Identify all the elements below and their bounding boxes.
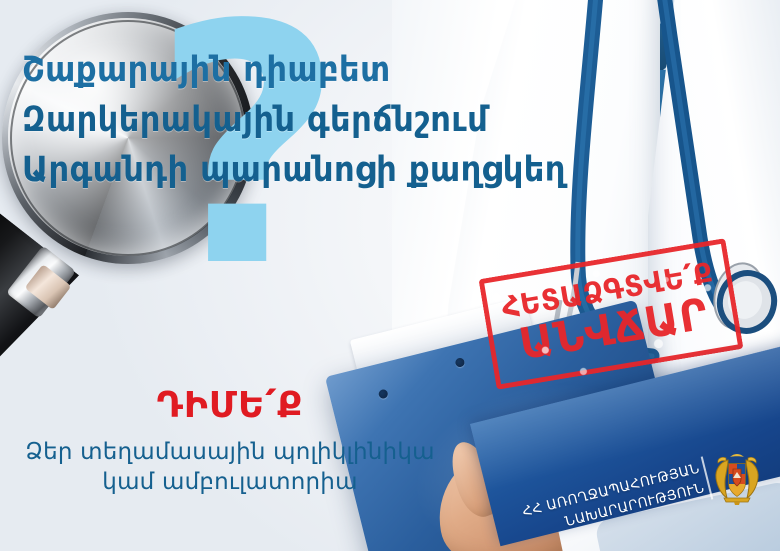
headline-line-3: Արգանդի պարանոցի քաղցկեղ	[22, 152, 537, 190]
headline-block: Շաքարային դիաբետ Զարկերակային գերճնշում …	[22, 52, 537, 201]
armenia-coat-of-arms-icon	[712, 452, 762, 506]
headline-line-1: Շաքարային դիաբետ	[22, 52, 537, 90]
call-to-action-block: ԴԻՄԵ՛Ք Ձեր տեղամասային պոլիկլինիկա կամ ա…	[20, 388, 440, 498]
cta-line-1: Ձեր տեղամասային պոլիկլինիկա	[20, 438, 440, 468]
cta-title: ԴԻՄԵ՛Ք	[20, 388, 440, 424]
health-awareness-poster: ? Շաքարային դիաբետ Զարկերակային գերճնշու…	[0, 0, 780, 551]
headline-line-2: Զարկերակային գերճնշում	[22, 102, 537, 140]
cta-line-2: կամ ամբուլատորիա	[20, 468, 440, 498]
